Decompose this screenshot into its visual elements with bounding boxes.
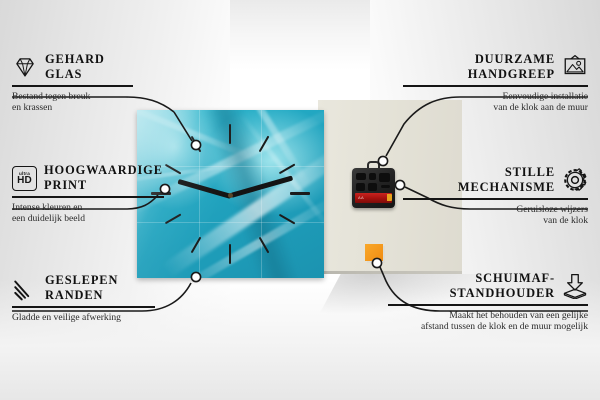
feature-description: Maakt het behouden van een gelijke afsta…: [388, 310, 588, 333]
product-infographic: AA GEHARD GLAS: [0, 0, 600, 400]
picture-frame-hanger-icon: [562, 54, 588, 80]
feature-rule: [403, 198, 588, 200]
feature-stille-mechanisme: STILLE MECHANISME Geruisloze wijzers van…: [403, 165, 588, 226]
feature-rule: [12, 85, 133, 87]
foam-spacer-icon: [562, 273, 588, 299]
feature-description: Gladde en veilige afwerking: [12, 312, 197, 323]
feature-description: Geruisloze wijzers van de klok: [403, 204, 588, 227]
feature-description: Eenvoudige installatie van de klok aan d…: [403, 91, 588, 114]
ultra-hd-icon: ultra HD: [12, 166, 37, 191]
feature-header: GEHARD GLAS: [12, 52, 197, 82]
feature-geslepen-randen: GESLEPEN RANDEN Gladde en veilige afwerk…: [12, 273, 197, 323]
feature-duurzame-handgreep: DUURZAME HANDGREEP Eenvoudige installati…: [403, 52, 588, 113]
feature-header: SCHUIMAF- STANDHOUDER: [388, 271, 588, 301]
feature-title: SCHUIMAF- STANDHOUDER: [450, 271, 555, 301]
bevelled-edges-icon: [12, 275, 38, 301]
feature-hoogwaardige-print: ultra HD HOOGWAARDIGE PRINT Intense kleu…: [12, 163, 197, 224]
callout-dot-4: [378, 156, 387, 165]
callout-line-1b: [174, 112, 192, 141]
feature-schuimafstandhouder: SCHUIMAF- STANDHOUDER Maakt het behouden…: [388, 271, 588, 332]
feature-header: DUURZAME HANDGREEP: [403, 52, 588, 82]
feature-title: GESLEPEN RANDEN: [45, 273, 118, 303]
feature-description: Bestand tegen breuk en krassen: [12, 91, 197, 114]
gear-icon: [562, 167, 588, 193]
feature-rule: [403, 85, 588, 87]
feature-header: GESLEPEN RANDEN: [12, 273, 197, 303]
feature-title: DUURZAME HANDGREEP: [468, 52, 555, 82]
feature-gehard-glas: GEHARD GLAS Bestand tegen breuk en krass…: [12, 52, 197, 113]
callout-dot-1: [191, 140, 200, 149]
feature-title: STILLE MECHANISME: [458, 165, 555, 195]
feature-header: ultra HD HOOGWAARDIGE PRINT: [12, 163, 197, 193]
feature-title: GEHARD GLAS: [45, 52, 105, 82]
feature-rule: [12, 196, 164, 198]
callout-dot-6: [372, 258, 381, 267]
feature-title: HOOGWAARDIGE PRINT: [44, 163, 163, 193]
diamond-icon: [12, 54, 38, 80]
feature-rule: [12, 306, 155, 308]
feature-header: STILLE MECHANISME: [403, 165, 588, 195]
feature-rule: [388, 304, 588, 306]
feature-description: Intense kleuren en een duidelijk beeld: [12, 202, 197, 225]
